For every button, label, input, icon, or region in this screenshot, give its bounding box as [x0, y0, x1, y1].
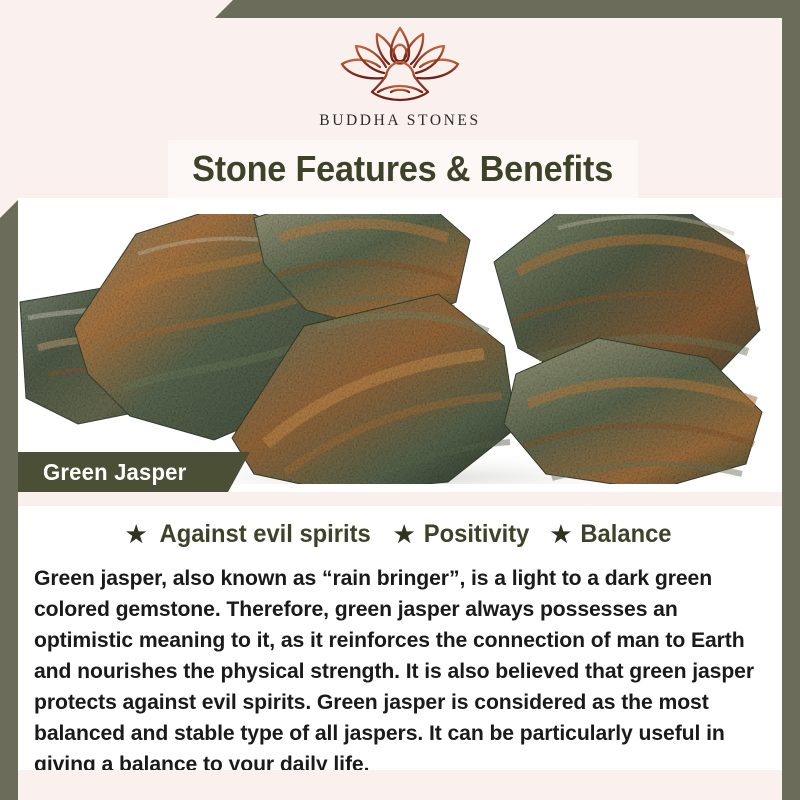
benefits-row: ★ Against evil spirits ★ Positivity ★ Ba…: [34, 520, 766, 549]
brand-header: BUDDHA STONES: [18, 18, 782, 138]
benefit-item-2: ★ Positivity: [394, 520, 533, 549]
star-icon: ★: [126, 523, 147, 546]
footer-strip: [18, 770, 782, 800]
page-title: Stone Features & Benefits: [193, 148, 614, 190]
frame-band-left: [0, 200, 18, 800]
benefit-label: Positivity: [424, 520, 530, 549]
benefit-item-1: ★ Against evil spirits: [126, 520, 376, 549]
stone-name-label: Green Jasper: [43, 459, 186, 486]
stone-name-banner: Green Jasper: [18, 452, 250, 492]
photo-divider-strip: [18, 492, 782, 506]
brand-wordmark: BUDDHA STONES: [319, 112, 480, 130]
frame-band-top: [215, 0, 800, 18]
benefit-label: Balance: [581, 520, 672, 549]
benefit-label: Against evil spirits: [159, 520, 370, 549]
title-plaque: Stone Features & Benefits: [168, 140, 638, 198]
star-icon: ★: [551, 523, 572, 546]
benefit-item-3: ★ Balance: [551, 520, 675, 549]
lotus-meditation-icon: [336, 26, 464, 110]
star-icon: ★: [394, 523, 415, 546]
page-surface: BUDDHA STONES Stone Features & Benefits: [18, 18, 782, 782]
description-paragraph: Green jasper, also known as “rain bringe…: [34, 563, 755, 780]
content-card: ★ Against evil spirits ★ Positivity ★ Ba…: [18, 506, 782, 770]
poster-canvas: BUDDHA STONES Stone Features & Benefits: [0, 0, 800, 800]
frame-band-right: [782, 0, 800, 800]
